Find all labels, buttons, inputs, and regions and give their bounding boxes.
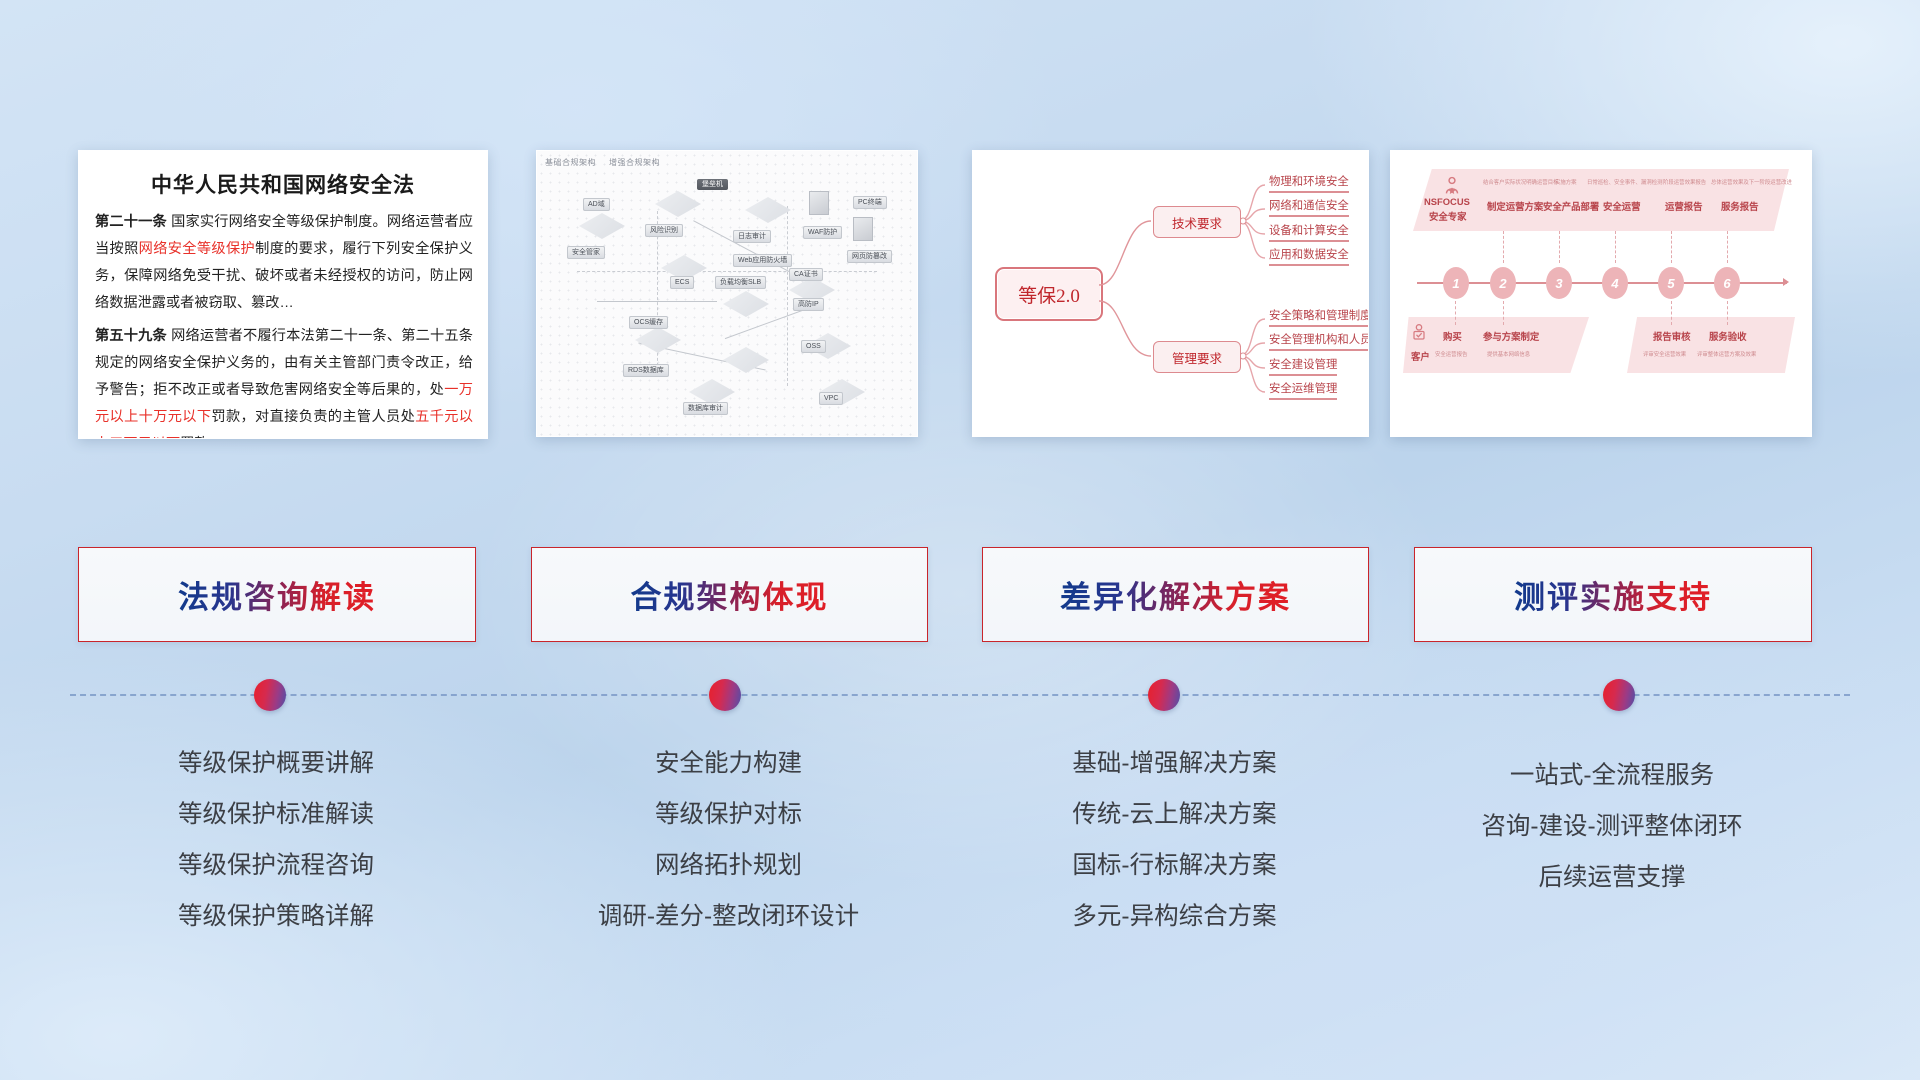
architecture-diagram: 基础合规架构 增强合规架构 堡垒机 xyxy=(537,151,917,436)
roadmap-bottom-title-3: 报告审核 xyxy=(1653,329,1691,343)
mindmap-leaf-tech-1: 物理和环境安全 xyxy=(1269,173,1349,193)
roadmap-marker-4: 4 xyxy=(1602,267,1628,299)
architecture-node-7: ECS xyxy=(670,276,694,289)
column-list-4: 一站式-全流程服务 咨询-建设-测评整体闭环 后续运营支撑 xyxy=(1414,750,1810,903)
architecture-plate-1 xyxy=(579,213,625,239)
roadmap-bottom-title-2: 参与方案制定 xyxy=(1483,329,1539,343)
architecture-node-3: 日志审计 xyxy=(733,230,771,243)
architecture-node-11: OCS缓存 xyxy=(629,316,668,329)
list-item: 国标-行标解决方案 xyxy=(982,840,1367,891)
architecture-node-13: RDS数据库 xyxy=(623,364,669,377)
list-item: 咨询-建设-测评整体闭环 xyxy=(1414,801,1810,852)
list-item: 等级保护概要讲解 xyxy=(78,738,474,789)
headline-label-3: 差异化解决方案 xyxy=(1060,572,1291,617)
column-lists: 等级保护概要讲解 等级保护标准解读 等级保护流程咨询 等级保护策略详解 安全能力… xyxy=(0,738,1920,1038)
headline-box-1[interactable]: 法规咨询解读 xyxy=(78,547,476,642)
law-article-59-text-c: 罚款。 xyxy=(180,436,223,439)
roadmap-marker-1: 1 xyxy=(1443,267,1469,299)
list-item: 传统-云上解决方案 xyxy=(982,789,1367,840)
roadmap-top-actor-line2: 安全专家 xyxy=(1429,209,1467,223)
architecture-node-14: 数据库审计 xyxy=(683,402,728,415)
roadmap-bottom-title-1: 购买 xyxy=(1443,329,1462,343)
card-cybersecurity-law: 中华人民共和国网络安全法 第二十一条 国家实行网络安全等级保护制度。网络运营者应… xyxy=(78,150,488,439)
law-article-59-text-b: 罚款，对直接负责的主管人员处 xyxy=(211,409,415,425)
law-title: 中华人民共和国网络安全法 xyxy=(79,169,487,199)
column-list-3: 基础-增强解决方案 传统-云上解决方案 国标-行标解决方案 多元-异构综合方案 xyxy=(982,738,1367,942)
headline-box-4[interactable]: 测评实施支持 xyxy=(1414,547,1812,642)
list-item: 网络拓扑规划 xyxy=(531,840,926,891)
roadmap-marker-5: 5 xyxy=(1658,267,1684,299)
card-compliance-architecture: 基础合规架构 增强合规架构 堡垒机 xyxy=(536,150,918,437)
roadmap-top-title-5: 服务报告 xyxy=(1721,199,1759,213)
roadmap-top-title-1: 制定运营方案 xyxy=(1487,199,1543,213)
mindmap-branch-management: 管理要求 xyxy=(1153,341,1241,373)
architecture-cube-2 xyxy=(853,217,873,241)
list-item: 多元-异构综合方案 xyxy=(982,891,1367,942)
column-list-1: 等级保护概要讲解 等级保护标准解读 等级保护流程咨询 等级保护策略详解 xyxy=(78,738,474,942)
architecture-header-left: 基础合规架构 xyxy=(545,157,596,168)
roadmap-top-sub-1: 结合客户实际状况明确运营目标 xyxy=(1483,178,1558,186)
headline-label-4: 测评实施支持 xyxy=(1514,572,1712,617)
headline-label-2: 合规架构体现 xyxy=(631,572,829,617)
roadmap-bottom-sub-3: 评审安全运营效果 xyxy=(1643,350,1686,358)
architecture-node-12: OSS xyxy=(801,340,826,353)
list-item: 调研-差分-整改闭环设计 xyxy=(531,891,926,942)
architecture-plate-3 xyxy=(745,197,791,223)
mindmap-leaf-mgmt-3: 安全建设管理 xyxy=(1269,356,1337,376)
roadmap-bottom-sub-1: 安全运营报告 xyxy=(1435,350,1467,358)
architecture-node-chip: 堡垒机 xyxy=(697,179,728,189)
architecture-node-9: CA证书 xyxy=(789,268,823,281)
roadmap-bottom-sub-4: 评审整体运营方案及效果 xyxy=(1697,350,1756,358)
architecture-plate-5 xyxy=(723,291,769,317)
list-item: 安全能力构建 xyxy=(531,738,926,789)
mindmap-leaf-mgmt-2: 安全管理机构和人员 xyxy=(1269,331,1369,351)
headline-box-2[interactable]: 合规架构体现 xyxy=(531,547,928,642)
expert-person-icon xyxy=(1441,175,1463,197)
customer-person-icon xyxy=(1409,323,1429,345)
architecture-node-4: WAF防护 xyxy=(803,226,842,239)
list-item: 等级保护策略详解 xyxy=(78,891,474,942)
architecture-plate-2 xyxy=(655,191,701,217)
list-item: 一站式-全流程服务 xyxy=(1414,750,1810,801)
card-dengbao-mindmap: 等保2.0 技术要求 管理要求 物理和环境安全 网络和通信安全 设备和计算安 xyxy=(972,150,1369,437)
roadmap-top-sub-3: 日常巡检、安全事件、漏洞检测 xyxy=(1587,178,1662,186)
roadmap-top-title-2: 安全产品部署 xyxy=(1543,199,1599,213)
architecture-node-2: 风险识别 xyxy=(645,224,683,237)
timeline-dashed-line xyxy=(70,694,1850,700)
roadmap-top-sub-2: 实施方案 xyxy=(1555,178,1577,186)
mindmap-branch-technical: 技术要求 xyxy=(1153,206,1241,238)
mindmap-leaf-tech-3: 设备和计算安全 xyxy=(1269,222,1349,242)
roadmap-top-sub-5: 总体运营效果及下一阶段运营改进 xyxy=(1711,178,1792,186)
roadmap-marker-6: 6 xyxy=(1714,267,1740,299)
mindmap: 等保2.0 技术要求 管理要求 物理和环境安全 网络和通信安全 设备和计算安 xyxy=(973,151,1368,436)
card-nsfocus-roadmap: NSFOCUS 安全专家 结合客户实际状况明确运营目标 制定运营方案 实施方案 … xyxy=(1390,150,1812,437)
list-item: 等级保护标准解读 xyxy=(78,789,474,840)
architecture-node-6: Web应用防火墙 xyxy=(733,254,792,267)
headline-row: 法规咨询解读 合规架构体现 差异化解决方案 测评实施支持 xyxy=(0,547,1920,647)
timeline-dot-2[interactable] xyxy=(709,679,741,711)
architecture-node-15: VPC xyxy=(819,392,843,405)
timeline-dot-3[interactable] xyxy=(1148,679,1180,711)
architecture-plate-7 xyxy=(635,327,681,353)
reference-image-cards: 中华人民共和国网络安全法 第二十一条 国家实行网络安全等级保护制度。网络运营者应… xyxy=(0,150,1920,440)
roadmap-diagram: NSFOCUS 安全专家 结合客户实际状况明确运营目标 制定运营方案 实施方案 … xyxy=(1391,151,1811,436)
roadmap-bottom-band-left xyxy=(1403,317,1589,373)
law-article-21-label: 第二十一条 xyxy=(95,214,167,230)
list-item: 后续运营支撑 xyxy=(1414,852,1810,903)
architecture-node-16: AD域 xyxy=(583,198,610,211)
mindmap-leaf-mgmt-4: 安全运维管理 xyxy=(1269,380,1337,400)
roadmap-bottom-sub-2: 提供基本网络信息 xyxy=(1487,350,1530,358)
law-article-59-label: 第五十九条 xyxy=(95,328,167,344)
list-item: 等级保护流程咨询 xyxy=(78,840,474,891)
column-list-2: 安全能力构建 等级保护对标 网络拓扑规划 调研-差分-整改闭环设计 xyxy=(531,738,926,942)
roadmap-arrow-icon xyxy=(1783,278,1789,286)
mindmap-leaf-mgmt-1: 安全策略和管理制度 xyxy=(1269,307,1369,327)
roadmap-top-title-4: 运营报告 xyxy=(1665,199,1703,213)
architecture-node-0: 堡垒机 xyxy=(697,179,728,190)
law-article-21-highlight: 网络安全等级保护 xyxy=(139,241,255,257)
architecture-header-right: 增强合规架构 xyxy=(609,157,660,168)
roadmap-marker-2: 2 xyxy=(1490,267,1516,299)
roadmap-top-title-3: 安全运营 xyxy=(1603,199,1641,213)
architecture-node-8: 负载均衡SLB xyxy=(715,276,766,289)
list-item: 等级保护对标 xyxy=(531,789,926,840)
architecture-cube-1 xyxy=(809,191,829,215)
roadmap-bottom-actor-label: 客户 xyxy=(1411,349,1430,363)
architecture-plate-8 xyxy=(723,347,769,373)
architecture-node-10: 高防IP xyxy=(793,298,824,311)
list-item: 基础-增强解决方案 xyxy=(982,738,1367,789)
roadmap-marker-3: 3 xyxy=(1546,267,1572,299)
architecture-node-5: 网页防篡改 xyxy=(847,250,892,263)
timeline-dot-4[interactable] xyxy=(1603,679,1635,711)
mindmap-leaf-tech-4: 应用和数据安全 xyxy=(1269,246,1349,266)
law-body: 第二十一条 国家实行网络安全等级保护制度。网络运营者应当按照网络安全等级保护制度… xyxy=(79,209,487,439)
mindmap-leaf-tech-2: 网络和通信安全 xyxy=(1269,197,1349,217)
architecture-node-1: 安全管家 xyxy=(567,246,605,259)
roadmap-top-actor-line1: NSFOCUS xyxy=(1424,196,1470,207)
roadmap-bottom-title-4: 服务验收 xyxy=(1709,329,1747,343)
timeline-dot-1[interactable] xyxy=(254,679,286,711)
architecture-node-17: PC终端 xyxy=(853,196,887,209)
headline-label-1: 法规咨询解读 xyxy=(178,572,376,617)
headline-box-3[interactable]: 差异化解决方案 xyxy=(982,547,1369,642)
roadmap-bottom-band-right xyxy=(1627,317,1795,373)
roadmap-top-sub-4: 阶段运营效果报告 xyxy=(1663,178,1706,186)
